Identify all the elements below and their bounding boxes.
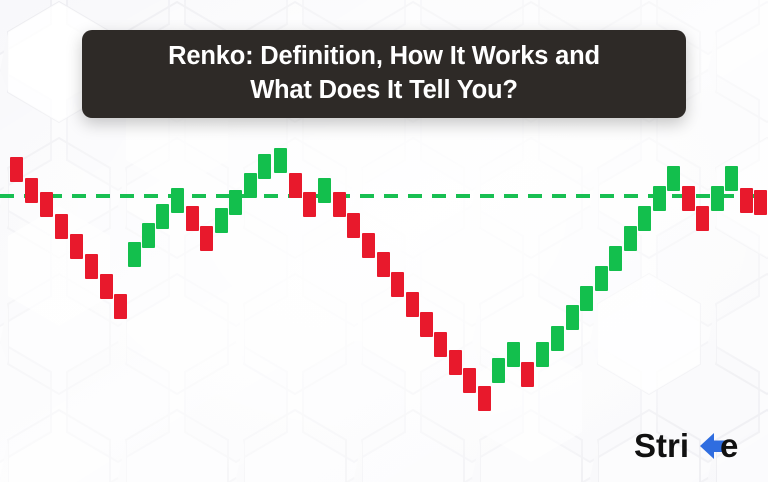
renko-brick-down (55, 214, 68, 239)
renko-brick-down (463, 368, 476, 393)
brand-logo: Stri e (634, 426, 750, 466)
renko-brick-up (536, 342, 549, 367)
renko-brick-up (667, 166, 680, 191)
renko-chart (0, 130, 768, 420)
renko-brick-down (420, 312, 433, 337)
renko-brick-up (215, 208, 228, 233)
renko-brick-up (580, 286, 593, 311)
renko-brick-up (711, 186, 724, 211)
renko-brick-up (142, 223, 155, 248)
renko-brick-up (492, 358, 505, 383)
renko-brick-up (624, 226, 637, 251)
renko-brick-down (303, 192, 316, 217)
renko-brick-down (25, 178, 38, 203)
renko-brick-down (434, 332, 447, 357)
renko-brick-up (609, 246, 622, 271)
renko-brick-up (229, 190, 242, 215)
renko-brick-down (406, 292, 419, 317)
renko-brick-up (638, 206, 651, 231)
renko-brick-down (70, 234, 83, 259)
renko-brick-up (274, 148, 287, 173)
renko-brick-down (289, 173, 302, 198)
renko-brick-down (740, 188, 753, 213)
page-title: Renko: Definition, How It Works and What… (168, 40, 600, 108)
brand-logo-text-part3: e (720, 427, 738, 464)
renko-brick-series (10, 148, 767, 411)
renko-brick-down (449, 350, 462, 375)
renko-brick-down (377, 252, 390, 277)
renko-brick-down (10, 157, 23, 182)
renko-brick-up (318, 178, 331, 203)
renko-brick-down (478, 386, 491, 411)
renko-brick-down (696, 206, 709, 231)
renko-brick-up (566, 305, 579, 330)
renko-brick-down (682, 186, 695, 211)
renko-brick-up (156, 204, 169, 229)
renko-brick-down (186, 206, 199, 231)
renko-brick-down (521, 362, 534, 387)
renko-brick-up (725, 166, 738, 191)
renko-brick-up (244, 173, 257, 198)
renko-brick-down (200, 226, 213, 251)
renko-brick-down (114, 294, 127, 319)
renko-brick-down (362, 233, 375, 258)
renko-brick-up (507, 342, 520, 367)
renko-brick-down (85, 254, 98, 279)
title-card: Renko: Definition, How It Works and What… (82, 30, 686, 118)
renko-brick-down (347, 213, 360, 238)
renko-brick-down (754, 190, 767, 215)
renko-brick-down (100, 274, 113, 299)
infographic-canvas: Renko: Definition, How It Works and What… (0, 0, 768, 482)
renko-brick-up (258, 154, 271, 179)
renko-brick-up (171, 188, 184, 213)
renko-brick-up (551, 326, 564, 351)
renko-brick-up (128, 242, 141, 267)
renko-brick-down (333, 192, 346, 217)
renko-brick-up (595, 266, 608, 291)
renko-brick-up (653, 186, 666, 211)
renko-brick-down (391, 272, 404, 297)
renko-brick-down (40, 192, 53, 217)
brand-logo-text-part1: Stri (634, 427, 689, 464)
